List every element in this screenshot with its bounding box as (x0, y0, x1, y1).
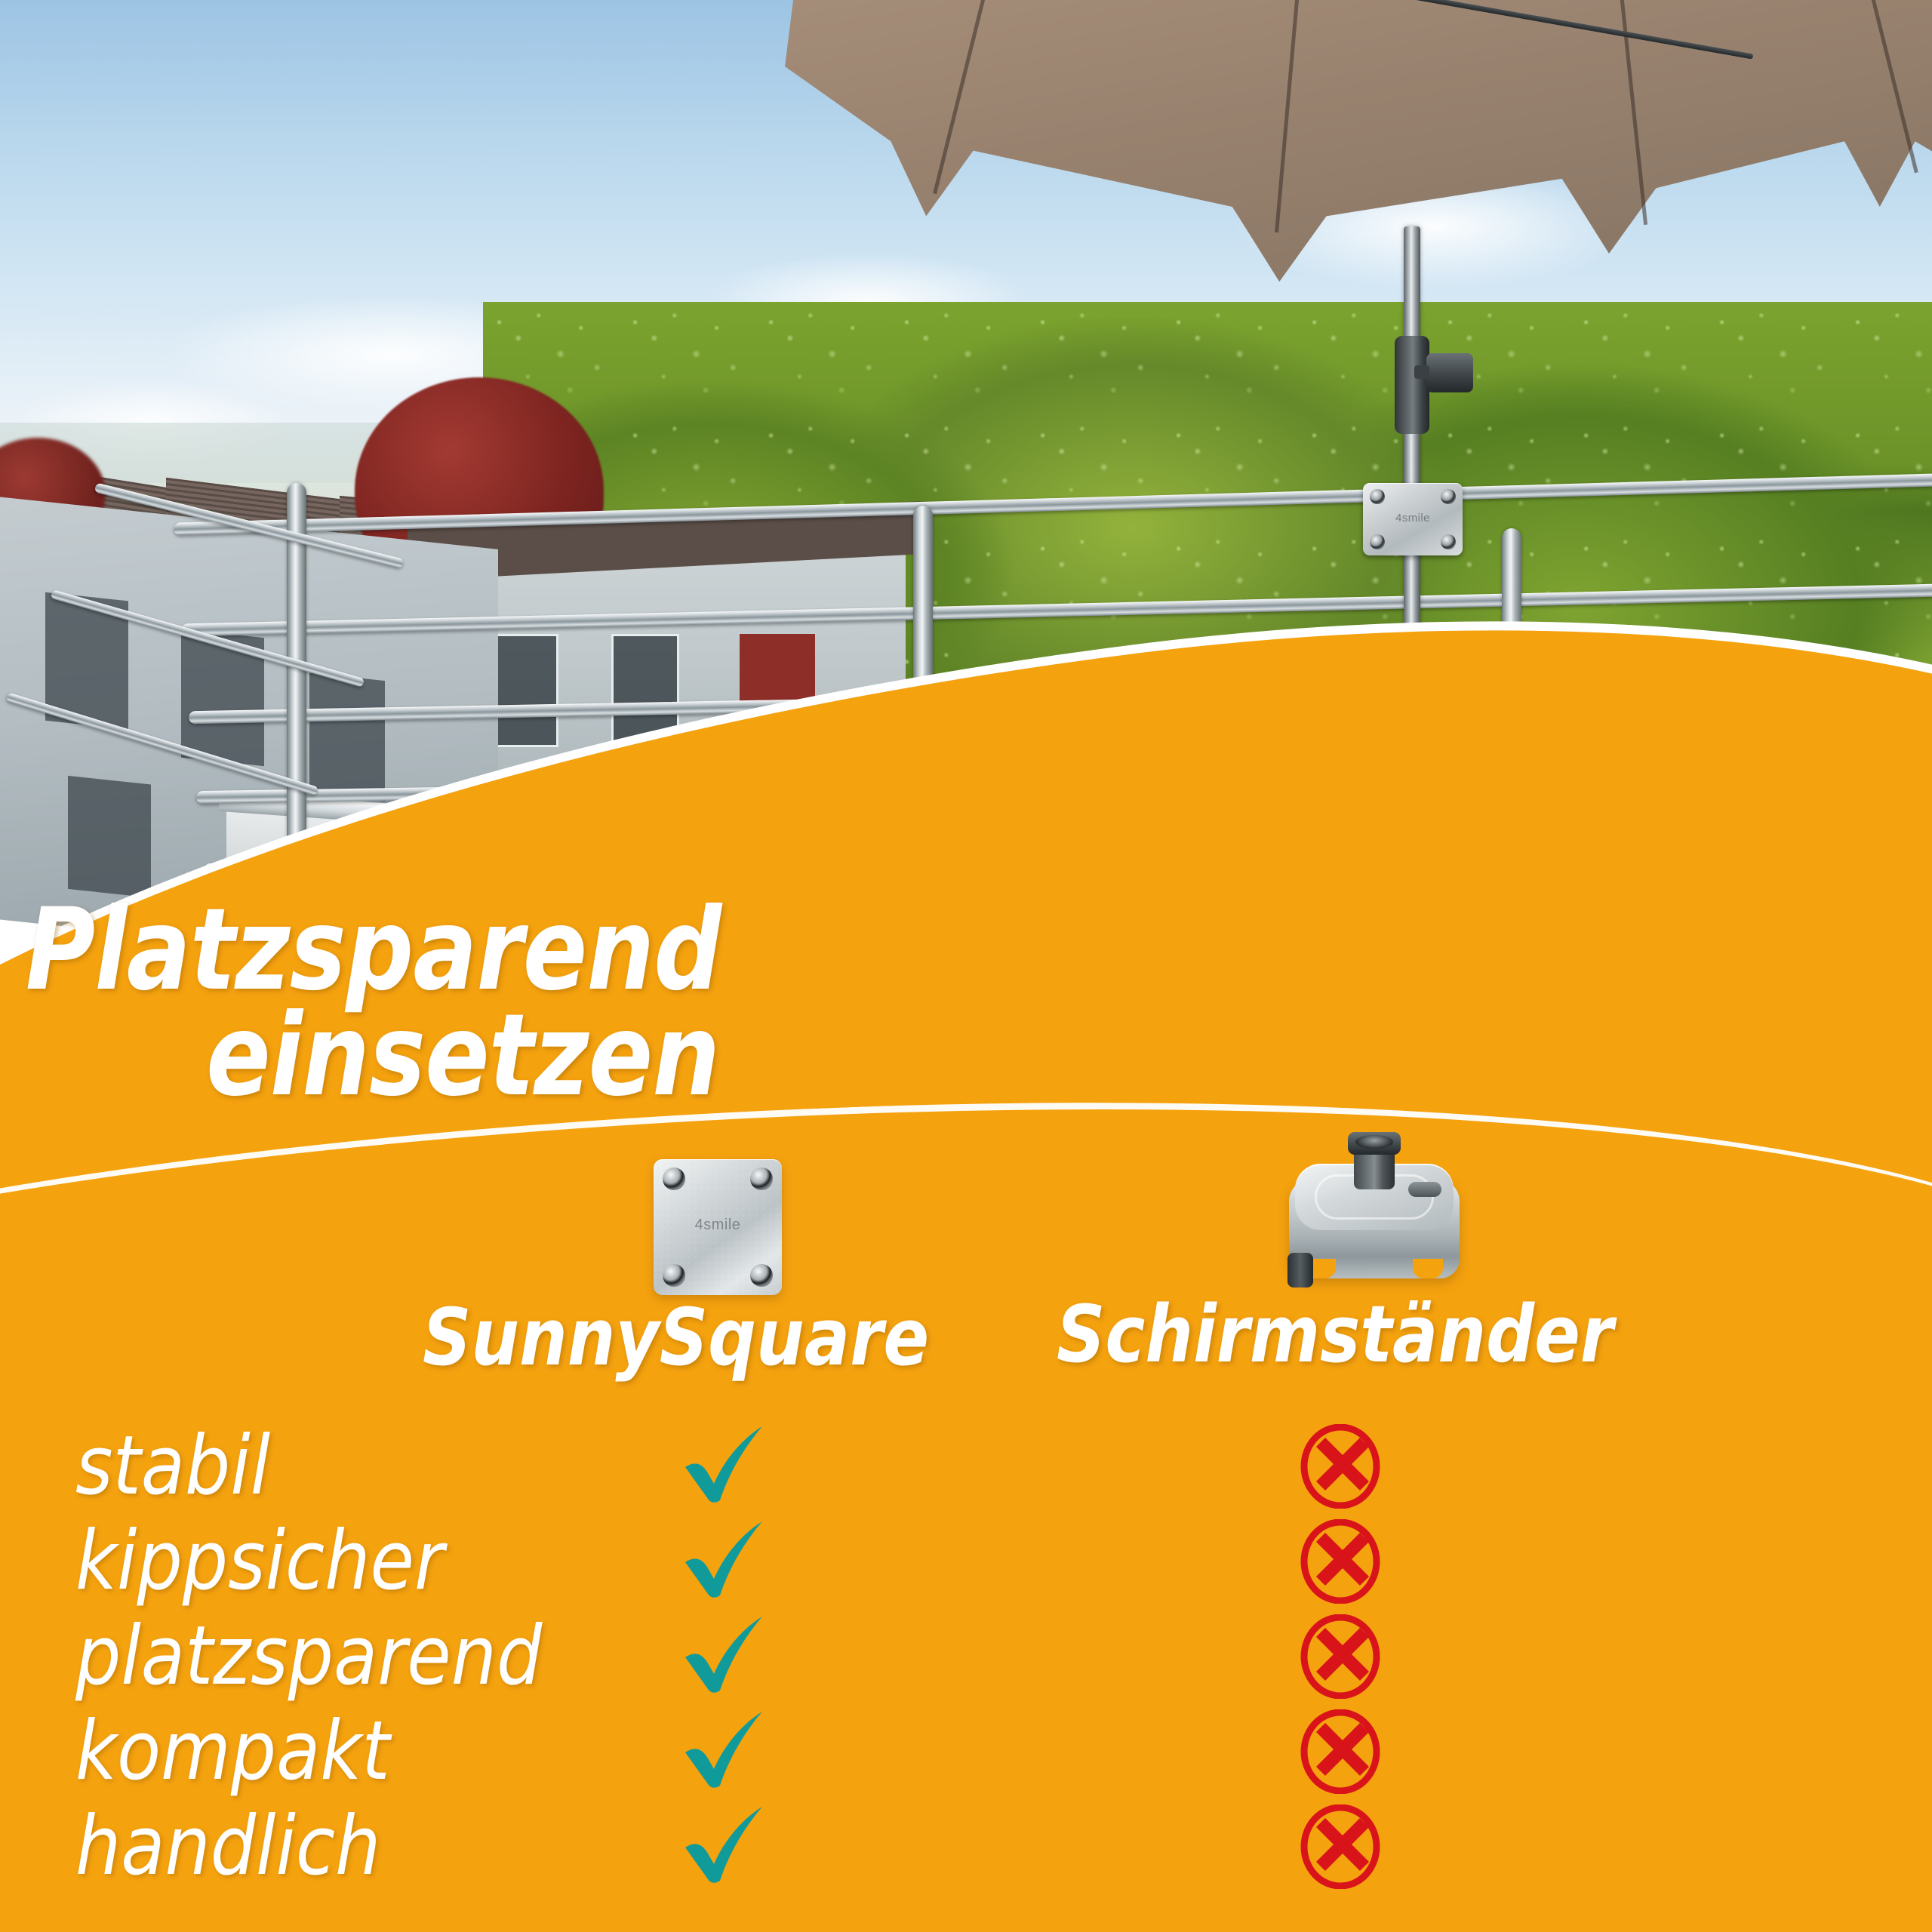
mark-row (679, 1799, 770, 1894)
column-header-schirmstaender: Schirmständer (1057, 1295, 1614, 1374)
list-item: kompakt (75, 1704, 694, 1799)
mark-row (679, 1609, 770, 1704)
headline-line-2: einsetzen (0, 1004, 735, 1109)
feature-label: kippsicher (75, 1521, 444, 1602)
cross-circle-icon (1298, 1804, 1383, 1889)
headline-line-1: Platzsparend (0, 898, 735, 1004)
check-icon (679, 1615, 770, 1698)
check-icon (679, 1805, 770, 1888)
mark-row (679, 1514, 770, 1609)
schirmstaender-product-image (1275, 1132, 1472, 1298)
cross-circle-icon (1298, 1709, 1383, 1794)
sunnysquare-brand-label: 4smile (654, 1217, 782, 1234)
schirmstaender-marks-column (1298, 1419, 1383, 1894)
cross-circle-icon (1298, 1424, 1383, 1509)
list-item: platzsparend (75, 1609, 694, 1704)
feature-label: kompakt (75, 1711, 390, 1792)
mark-row (1298, 1704, 1383, 1799)
sunnysquare-marks-column (679, 1419, 770, 1894)
mark-row (1298, 1419, 1383, 1514)
list-item: stabil (75, 1419, 694, 1514)
cross-circle-icon (1298, 1519, 1383, 1604)
base-slot (1408, 1182, 1441, 1197)
check-icon (679, 1520, 770, 1603)
sunnysquare-product-image: 4smile (654, 1159, 782, 1295)
mark-row (679, 1704, 770, 1799)
mark-row (1298, 1799, 1383, 1894)
column-header-sunnysquare: SunnySquare (423, 1298, 929, 1377)
feature-label: handlich (75, 1806, 380, 1887)
base-wheel (1287, 1253, 1313, 1287)
product-comparison-poster: 4smile Platzsparend einsetzen 4smile Sun… (0, 0, 1932, 1932)
check-icon (679, 1425, 770, 1508)
mark-row (679, 1419, 770, 1514)
mark-row (1298, 1609, 1383, 1704)
feature-list: stabil kippsicher platzsparend kompakt h… (75, 1419, 694, 1894)
base-pole-opening (1355, 1135, 1393, 1149)
feature-label: stabil (75, 1426, 270, 1507)
mark-row (1298, 1514, 1383, 1609)
page-title: Platzsparend einsetzen (0, 898, 735, 1109)
feature-label: platzsparend (75, 1616, 542, 1697)
check-icon (679, 1710, 770, 1793)
cross-circle-icon (1298, 1614, 1383, 1699)
list-item: kippsicher (75, 1514, 694, 1609)
list-item: handlich (75, 1799, 694, 1894)
